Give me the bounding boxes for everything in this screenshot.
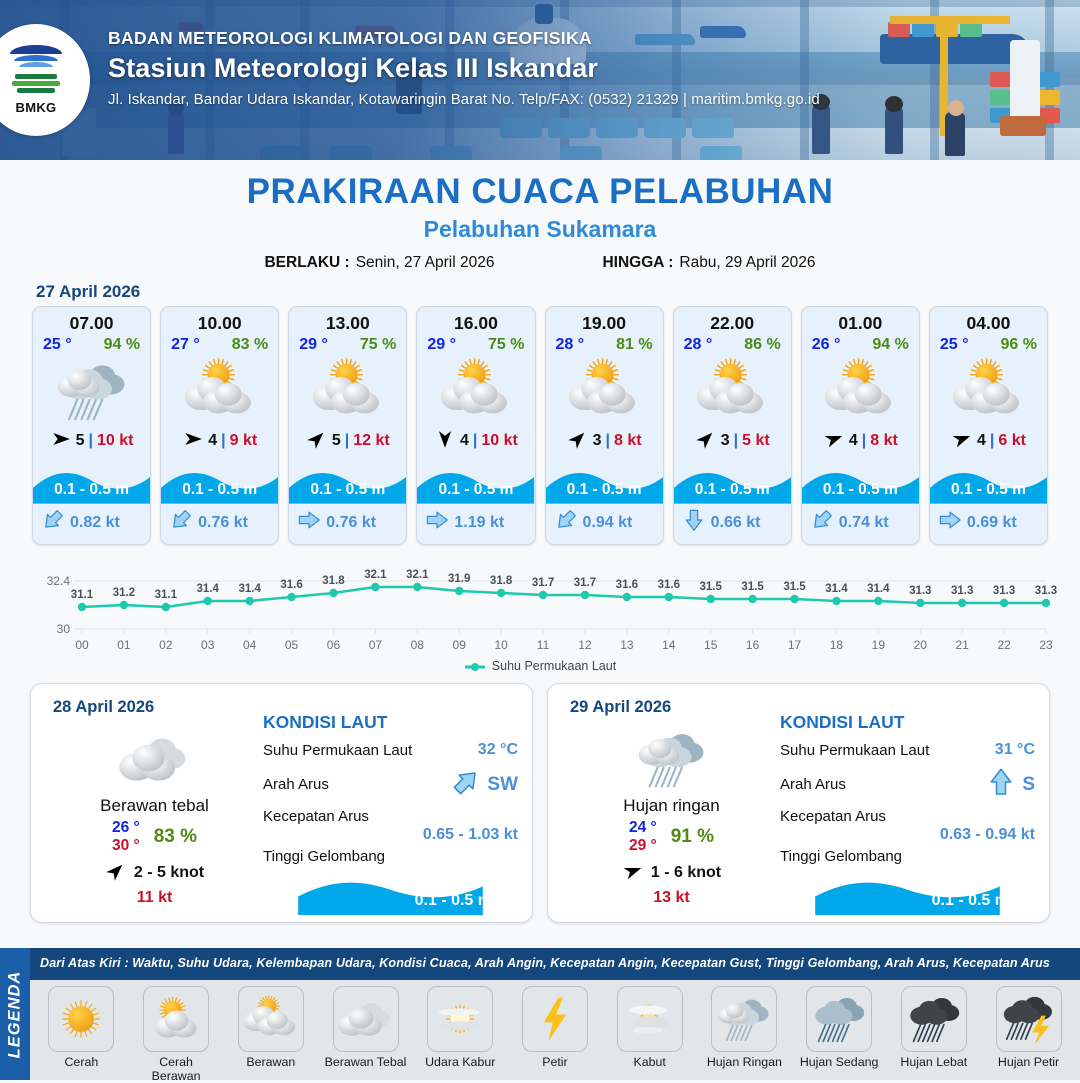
panel-temp-max: 29 ° (629, 837, 657, 855)
panel-detail-row: Kecepatan Arus0.63 - 0.94 kt (780, 808, 1035, 844)
card-temperature: 26 ° (812, 336, 841, 354)
valid-from-label: BERLAKU : (264, 254, 349, 272)
wind-separator: | (990, 432, 994, 450)
card-wind-row: 4|6 kt (930, 426, 1047, 456)
svg-text:20: 20 (914, 638, 928, 652)
legend-side-label: LEGENDA (0, 948, 30, 1080)
svg-text:30: 30 (57, 622, 71, 636)
wind-direction-icon (306, 428, 328, 450)
card-current-speed: 0.74 kt (839, 514, 889, 532)
valid-to: HINGGA : Rabu, 29 April 2026 (602, 254, 815, 272)
wind-direction-icon (622, 860, 644, 887)
card-time: 04.00 (930, 307, 1047, 336)
card-temp-humidity-row: 25 °94 % (33, 336, 150, 356)
svg-text:22: 22 (997, 638, 1011, 652)
panel-wave-box: 0.1 - 0.5 m (263, 867, 518, 919)
current-direction-icon (41, 508, 65, 537)
card-time: 10.00 (161, 307, 278, 336)
card-current-speed: 1.19 kt (454, 514, 504, 532)
light-rain-icon (711, 986, 777, 1052)
card-wave-height: 0.1 - 0.5 m (33, 481, 150, 499)
card-current-row: 0.66 kt (674, 504, 791, 544)
card-current-row: 0.82 kt (33, 504, 150, 544)
panel-temp-max: 30 ° (112, 837, 140, 855)
svg-text:17: 17 (788, 638, 802, 652)
heavy-rain-icon (901, 986, 967, 1052)
card-wind-row: 4|9 kt (161, 426, 278, 456)
card-temp-humidity-row: 27 °83 % (161, 336, 278, 356)
current-direction-icon (425, 508, 449, 537)
legend-item-label: Cerah Berawan (133, 1055, 219, 1083)
wave-label: Tinggi Gelombang (263, 848, 518, 865)
card-temperature: 25 ° (940, 336, 969, 354)
legend-item: Cerah Berawan (133, 986, 219, 1083)
panel-humidity: 83 % (154, 826, 197, 848)
current-direction-label: Arah Arus (263, 776, 329, 793)
svg-text:14: 14 (662, 638, 676, 652)
sun-cloud-icon (143, 986, 209, 1052)
svg-text:10: 10 (494, 638, 508, 652)
current-speed-label: Kecepatan Arus (263, 808, 518, 825)
card-temp-humidity-row: 28 °81 % (546, 336, 663, 356)
card-wind-speed: 12 kt (353, 432, 389, 450)
hourly-forecast-card: 10.0027 °83 %4|9 kt0.1 - 0.5 m0.76 kt (160, 306, 279, 545)
panel-wind-row: 1 - 6 knot (564, 860, 779, 887)
header-station-name: Stasiun Meteorologi Kelas III Iskandar (108, 53, 820, 84)
wind-direction-icon (182, 428, 204, 450)
card-wave-section: 0.1 - 0.5 m (289, 456, 406, 504)
current-direction-icon (938, 508, 962, 537)
bmkg-logo-text: BMKG (16, 100, 57, 115)
card-temperature: 28 ° (556, 336, 585, 354)
card-wind-row: 4|10 kt (417, 426, 534, 456)
card-current-speed: 0.94 kt (583, 514, 633, 532)
card-wave-height: 0.1 - 0.5 m (802, 481, 919, 499)
hourly-forecast-card: 13.0029 °75 %5|12 kt0.1 - 0.5 m0.76 kt (288, 306, 407, 545)
panel-temp-humidity: 26 °30 °83 % (47, 819, 262, 855)
hourly-forecast-card: 16.0029 °75 %4|10 kt0.1 - 0.5 m1.19 kt (416, 306, 535, 545)
thunderstorm-rain-icon (996, 986, 1062, 1052)
wind-direction-icon (951, 428, 973, 450)
panel-gust: 13 kt (564, 889, 779, 907)
wind-direction-icon (622, 860, 644, 882)
card-wind-speed: 10 kt (97, 432, 133, 450)
wind-direction-icon (50, 428, 72, 455)
card-time: 22.00 (674, 307, 791, 336)
current-direction-icon (810, 508, 834, 532)
panel-humidity: 91 % (671, 826, 714, 848)
legend-side-text: LEGENDA (6, 970, 25, 1058)
current-direction-icon (682, 508, 706, 532)
card-humidity: 81 % (616, 336, 652, 354)
haze-icon (427, 986, 493, 1052)
card-wind-dir-value: 4 (460, 432, 469, 450)
svg-text:08: 08 (411, 638, 425, 652)
panel-section-title: KONDISI LAUT (780, 712, 1035, 733)
valid-from: BERLAKU : Senin, 27 April 2026 (264, 254, 494, 272)
panel-detail-row: Kecepatan Arus0.65 - 1.03 kt (263, 808, 518, 844)
daily-forecast-row: 28 April 2026Berawan tebal26 °30 °83 %2 … (0, 673, 1080, 923)
card-temp-humidity-row: 29 °75 % (289, 336, 406, 356)
panel-condition: Berawan tebal (47, 796, 262, 816)
panel-wave-height: 0.1 - 0.5 m (932, 892, 1009, 910)
current-speed-value: 0.63 - 0.94 kt (780, 826, 1035, 844)
card-humidity: 75 % (360, 336, 396, 354)
partly-cloudy-icon (930, 356, 1047, 426)
current-direction-group: SW (451, 767, 518, 802)
card-wind-row: 5|10 kt (33, 426, 150, 456)
wind-direction-icon (306, 428, 328, 455)
svg-text:31.4: 31.4 (825, 583, 848, 595)
svg-text:15: 15 (704, 638, 718, 652)
card-humidity: 75 % (488, 336, 524, 354)
panel-date: 29 April 2026 (570, 698, 671, 717)
light-rain-icon (564, 726, 779, 792)
card-wind-dir-value: 3 (721, 432, 730, 450)
current-direction-icon (169, 508, 193, 532)
card-wind-row: 3|8 kt (546, 426, 663, 456)
legend-item: Kabut (607, 986, 693, 1069)
valid-to-value: Rabu, 29 April 2026 (679, 254, 815, 272)
wind-direction-icon (105, 860, 127, 882)
page-header: BMKG BADAN METEOROLOGI KLIMATOLOGI DAN G… (0, 0, 1080, 160)
legend-item: Berawan Tebal (323, 986, 409, 1069)
current-direction-icon (451, 767, 481, 797)
svg-text:18: 18 (830, 638, 844, 652)
light-rain-icon (33, 356, 150, 426)
svg-text:31.9: 31.9 (448, 573, 470, 585)
svg-text:04: 04 (243, 638, 257, 652)
valid-from-value: Senin, 27 April 2026 (356, 254, 495, 272)
card-temp-humidity-row: 29 °75 % (417, 336, 534, 356)
card-wind-speed: 6 kt (998, 432, 1026, 450)
legend-item-label: Kabut (607, 1055, 693, 1069)
legend-item: Hujan Ringan (701, 986, 787, 1069)
card-current-speed: 0.66 kt (711, 514, 761, 532)
partly-cloudy-icon (161, 356, 278, 426)
fog-icon (617, 986, 683, 1052)
card-wave-section: 0.1 - 0.5 m (417, 456, 534, 504)
svg-text:31.3: 31.3 (951, 585, 973, 597)
current-direction-icon (425, 508, 449, 532)
panel-temperature-group: 26 °30 ° (112, 819, 140, 855)
card-wind-dir-value: 3 (593, 432, 602, 450)
sst-label: Suhu Permukaan Laut (263, 742, 412, 759)
svg-text:31.2: 31.2 (113, 587, 135, 599)
card-wave-height: 0.1 - 0.5 m (161, 481, 278, 499)
card-current-row: 0.74 kt (802, 504, 919, 544)
panel-left-column: Berawan tebal26 °30 °83 %2 - 5 knot11 kt (47, 726, 262, 907)
card-time: 13.00 (289, 307, 406, 336)
legend-items: CerahCerah BerawanBerawanBerawan TebalUd… (30, 980, 1080, 1080)
title-section: PRAKIRAAN CUACA PELABUHAN Pelabuhan Suka… (0, 160, 1080, 272)
wind-separator: | (89, 432, 93, 450)
svg-text:31.3: 31.3 (993, 585, 1015, 597)
panel-section-title: KONDISI LAUT (263, 712, 518, 733)
wind-direction-icon (951, 428, 973, 455)
bmkg-logo-arcs-icon (10, 45, 62, 71)
lightning-icon (522, 986, 588, 1052)
card-current-speed: 0.76 kt (326, 514, 376, 532)
current-direction-icon (682, 508, 706, 537)
wind-direction-icon (434, 428, 456, 455)
card-humidity: 94 % (872, 336, 908, 354)
svg-text:31.6: 31.6 (280, 579, 302, 591)
panel-wind-range: 2 - 5 knot (134, 864, 204, 882)
svg-text:07: 07 (369, 638, 383, 652)
svg-text:31.5: 31.5 (741, 581, 764, 593)
sst-value: 31 °C (995, 741, 1035, 759)
legend-label: Suhu Permukaan Laut (492, 659, 616, 673)
wind-direction-icon (823, 428, 845, 455)
card-temp-humidity-row: 28 °86 % (674, 336, 791, 356)
current-direction-label: Arah Arus (780, 776, 846, 793)
svg-text:31.4: 31.4 (238, 583, 261, 595)
card-time: 01.00 (802, 307, 919, 336)
svg-text:09: 09 (453, 638, 467, 652)
current-direction-icon (554, 508, 578, 532)
chart-legend: Suhu Permukaan Laut (0, 659, 1080, 673)
current-direction-icon (554, 508, 578, 537)
overcast-icon (47, 726, 262, 792)
current-direction-icon (986, 767, 1016, 802)
svg-text:13: 13 (620, 638, 634, 652)
daily-forecast-panel: 29 April 2026Hujan ringan24 °29 °91 %1 -… (547, 683, 1050, 923)
current-direction-icon (451, 767, 481, 802)
card-wind-speed: 10 kt (481, 432, 517, 450)
card-wave-height: 0.1 - 0.5 m (674, 481, 791, 499)
wind-direction-icon (567, 428, 589, 455)
wind-direction-icon (434, 428, 456, 450)
legend-item: Cerah (38, 986, 124, 1069)
hourly-forecast-card: 01.0026 °94 %4|8 kt0.1 - 0.5 m0.74 kt (801, 306, 920, 545)
svg-text:11: 11 (537, 638, 550, 652)
card-wave-height: 0.1 - 0.5 m (546, 481, 663, 499)
card-wind-dir-value: 4 (849, 432, 858, 450)
svg-text:31.3: 31.3 (1035, 585, 1057, 597)
card-current-row: 0.69 kt (930, 504, 1047, 544)
panel-condition: Hujan ringan (564, 796, 779, 816)
hourly-forecast-card: 19.0028 °81 %3|8 kt0.1 - 0.5 m0.94 kt (545, 306, 664, 545)
legend-item: Hujan Lebat (891, 986, 977, 1069)
legend-item: Udara Kabur (417, 986, 503, 1069)
panel-temperature-group: 24 °29 ° (629, 819, 657, 855)
svg-text:32.1: 32.1 (406, 569, 429, 581)
card-temp-humidity-row: 26 °94 % (802, 336, 919, 356)
legend-item-label: Hujan Ringan (701, 1055, 787, 1069)
card-temperature: 25 ° (43, 336, 72, 354)
legend-marker-icon (464, 661, 486, 671)
partly-cloudy-icon (546, 356, 663, 426)
partly-cloudy-icon (417, 356, 534, 426)
card-temperature: 28 ° (684, 336, 713, 354)
page-subtitle: Pelabuhan Sukamara (0, 216, 1080, 243)
panel-temp-min: 26 ° (112, 819, 140, 837)
panel-detail-row: Suhu Permukaan Laut31 °C (780, 739, 1035, 761)
svg-text:16: 16 (746, 638, 760, 652)
moderate-rain-icon (806, 986, 872, 1052)
panel-left-column: Hujan ringan24 °29 °91 %1 - 6 knot13 kt (564, 726, 779, 907)
legend-item: Hujan Petir (986, 986, 1072, 1069)
card-temperature: 29 ° (299, 336, 328, 354)
wind-direction-icon (695, 428, 717, 455)
legend-item-label: Petir (512, 1055, 598, 1069)
sst-chart-svg: 32.43031.10031.20131.10231.40331.40431.6… (20, 557, 1060, 657)
card-wind-dir-value: 5 (332, 432, 341, 450)
card-wave-section: 0.1 - 0.5 m (161, 456, 278, 504)
valid-to-label: HINGGA : (602, 254, 673, 272)
svg-text:05: 05 (285, 638, 299, 652)
current-direction-icon (297, 508, 321, 537)
validity-row: BERLAKU : Senin, 27 April 2026 HINGGA : … (0, 254, 1080, 272)
partly-cloudy-icon (802, 356, 919, 426)
svg-text:31.6: 31.6 (616, 579, 638, 591)
header-address: Jl. Iskandar, Bandar Udara Iskandar, Kot… (108, 91, 820, 108)
card-wave-section: 0.1 - 0.5 m (930, 456, 1047, 504)
legend-item: Petir (512, 986, 598, 1069)
card-current-speed: 0.82 kt (70, 514, 120, 532)
card-wind-row: 5|12 kt (289, 426, 406, 456)
current-direction-icon (297, 508, 321, 532)
svg-text:32.1: 32.1 (364, 569, 387, 581)
card-wind-dir-value: 5 (76, 432, 85, 450)
panel-sea-conditions: KONDISI LAUTSuhu Permukaan Laut32 °CArah… (263, 712, 518, 919)
card-current-speed: 0.69 kt (967, 514, 1017, 532)
wave-label: Tinggi Gelombang (780, 848, 1035, 865)
panel-wind-range: 1 - 6 knot (651, 864, 721, 882)
current-direction-icon (41, 508, 65, 532)
panel-wave-height: 0.1 - 0.5 m (415, 892, 492, 910)
panel-detail-row: Arah ArusSW (263, 767, 518, 802)
svg-text:23: 23 (1039, 638, 1053, 652)
hourly-forecast-card: 07.0025 °94 %5|10 kt0.1 - 0.5 m0.82 kt (32, 306, 151, 545)
card-temperature: 27 ° (171, 336, 200, 354)
svg-text:31.7: 31.7 (574, 577, 596, 589)
wind-separator: | (221, 432, 225, 450)
current-speed-label: Kecepatan Arus (780, 808, 1035, 825)
legend-item: Hujan Sedang (796, 986, 882, 1069)
card-wave-section: 0.1 - 0.5 m (674, 456, 791, 504)
svg-text:31.1: 31.1 (155, 589, 178, 601)
svg-text:19: 19 (872, 638, 886, 652)
wind-separator: | (345, 432, 349, 450)
panel-wave-box: 0.1 - 0.5 m (780, 867, 1035, 919)
legend-note: Dari Atas Kiri : Waktu, Suhu Udara, Kele… (40, 956, 1074, 970)
svg-text:00: 00 (75, 638, 89, 652)
wind-direction-icon (182, 428, 204, 455)
card-humidity: 94 % (104, 336, 140, 354)
card-current-row: 1.19 kt (417, 504, 534, 544)
sst-value: 32 °C (478, 741, 518, 759)
current-direction-icon (810, 508, 834, 537)
svg-text:31.6: 31.6 (658, 579, 680, 591)
legend-item-label: Cerah (38, 1055, 124, 1069)
current-direction-group: S (986, 767, 1035, 802)
wind-direction-icon (567, 428, 589, 450)
svg-text:31.7: 31.7 (532, 577, 554, 589)
card-wind-speed: 5 kt (742, 432, 770, 450)
page-title: PRAKIRAAN CUACA PELABUHAN (0, 172, 1080, 212)
partly-cloudy-icon (674, 356, 791, 426)
card-wave-section: 0.1 - 0.5 m (802, 456, 919, 504)
current-speed-value: 0.65 - 1.03 kt (263, 826, 518, 844)
card-current-row: 0.76 kt (289, 504, 406, 544)
card-wind-speed: 9 kt (230, 432, 258, 450)
card-wind-dir-value: 4 (208, 432, 217, 450)
legend-section: LEGENDA Dari Atas Kiri : Waktu, Suhu Uda… (0, 948, 1080, 1080)
legend-item-label: Hujan Petir (986, 1055, 1072, 1069)
panel-temp-humidity: 24 °29 °91 % (564, 819, 779, 855)
cloudy-icon (238, 986, 304, 1052)
svg-text:02: 02 (159, 638, 173, 652)
card-wave-height: 0.1 - 0.5 m (289, 481, 406, 499)
hourly-forecast-row: 07.0025 °94 %5|10 kt0.1 - 0.5 m0.82 kt10… (0, 306, 1080, 545)
card-humidity: 96 % (1001, 336, 1037, 354)
card-wind-row: 4|8 kt (802, 426, 919, 456)
wind-separator: | (605, 432, 609, 450)
panel-gust: 11 kt (47, 889, 262, 907)
card-wind-row: 3|5 kt (674, 426, 791, 456)
card-time: 07.00 (33, 307, 150, 336)
svg-text:31.1: 31.1 (71, 589, 94, 601)
card-current-row: 0.76 kt (161, 504, 278, 544)
svg-text:06: 06 (327, 638, 341, 652)
card-humidity: 83 % (232, 336, 268, 354)
wind-direction-icon (50, 428, 72, 450)
svg-text:31.5: 31.5 (783, 581, 806, 593)
card-humidity: 86 % (744, 336, 780, 354)
card-wave-section: 0.1 - 0.5 m (33, 456, 150, 504)
card-wind-dir-value: 4 (977, 432, 986, 450)
current-direction-icon (938, 508, 962, 532)
panel-sea-conditions: KONDISI LAUTSuhu Permukaan Laut31 °CArah… (780, 712, 1035, 919)
svg-text:01: 01 (117, 638, 131, 652)
panel-wind-row: 2 - 5 knot (47, 860, 262, 887)
svg-text:31.5: 31.5 (700, 581, 723, 593)
svg-text:21: 21 (955, 638, 969, 652)
card-wave-height: 0.1 - 0.5 m (417, 481, 534, 499)
wind-separator: | (862, 432, 866, 450)
svg-text:31.4: 31.4 (197, 583, 220, 595)
forecast-date-label: 27 April 2026 (36, 282, 1080, 302)
sst-label: Suhu Permukaan Laut (780, 742, 929, 759)
svg-text:12: 12 (578, 638, 592, 652)
svg-text:03: 03 (201, 638, 215, 652)
overcast-icon (333, 986, 399, 1052)
panel-detail-row: Arah ArusS (780, 767, 1035, 802)
legend-item-label: Berawan (228, 1055, 314, 1069)
card-temperature: 29 ° (427, 336, 456, 354)
current-direction-icon (169, 508, 193, 537)
current-direction-value: S (1022, 774, 1035, 796)
legend-item-label: Hujan Lebat (891, 1055, 977, 1069)
card-wind-speed: 8 kt (614, 432, 642, 450)
svg-text:31.8: 31.8 (490, 575, 513, 587)
panel-detail-row: Suhu Permukaan Laut32 °C (263, 739, 518, 761)
header-org-line: BADAN METEOROLOGI KLIMATOLOGI DAN GEOFIS… (108, 28, 820, 49)
wind-direction-icon (695, 428, 717, 450)
sst-chart: 32.43031.10031.20131.10231.40331.40431.6… (20, 557, 1060, 657)
card-time: 16.00 (417, 307, 534, 336)
hourly-forecast-card: 22.0028 °86 %3|5 kt0.1 - 0.5 m0.66 kt (673, 306, 792, 545)
daily-forecast-panel: 28 April 2026Berawan tebal26 °30 °83 %2 … (30, 683, 533, 923)
card-current-speed: 0.76 kt (198, 514, 248, 532)
panel-temp-min: 24 ° (629, 819, 657, 837)
svg-text:31.4: 31.4 (867, 583, 890, 595)
card-wave-section: 0.1 - 0.5 m (546, 456, 663, 504)
wind-direction-icon (823, 428, 845, 450)
sun-icon (48, 986, 114, 1052)
